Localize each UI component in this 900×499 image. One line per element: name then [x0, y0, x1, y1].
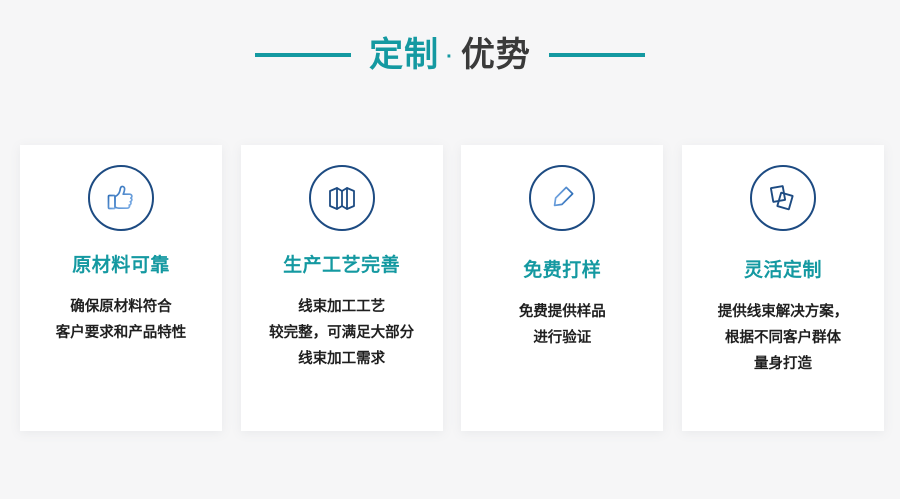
page-title-main: 优势	[461, 38, 531, 72]
icon-badge	[750, 165, 816, 231]
feature-card-title: 灵活定制	[744, 260, 822, 283]
pencil-icon	[545, 181, 579, 215]
feature-card-body-line: 较完整，可满足大部分	[269, 320, 414, 346]
feature-card-body-line: 提供线束解决方案，	[718, 299, 849, 325]
feature-card-flexible-customization[interactable]: 灵活定制 提供线束解决方案， 根据不同客户群体 量身打造	[682, 145, 884, 431]
feature-cards-row: 原材料可靠 确保原材料符合 客户要求和产品特性 生产工艺完善 线束加工工艺	[20, 145, 884, 431]
feature-card-body-line: 根据不同客户群体	[718, 325, 849, 351]
feature-card-body-line: 线束加工需求	[269, 346, 414, 372]
feature-card-body-line: 免费提供样品	[519, 299, 606, 325]
section-header: 定制 · 优势	[0, 0, 900, 110]
icon-badge	[309, 165, 375, 231]
feature-card-body-line: 客户要求和产品特性	[56, 320, 187, 346]
folded-map-icon	[325, 181, 359, 215]
divider-line-right	[549, 53, 645, 57]
feature-card-body-line: 进行验证	[519, 325, 606, 351]
stacked-papers-icon	[766, 181, 800, 215]
feature-card-raw-material[interactable]: 原材料可靠 确保原材料符合 客户要求和产品特性	[20, 145, 222, 431]
divider-line-left	[255, 53, 351, 57]
icon-badge	[88, 165, 154, 231]
feature-card-free-sample[interactable]: 免费打样 免费提供样品 进行验证	[461, 145, 663, 431]
page-title-accent: 定制	[369, 38, 439, 72]
thumbs-up-icon	[104, 181, 138, 215]
feature-card-production-process[interactable]: 生产工艺完善 线束加工工艺 较完整，可满足大部分 线束加工需求	[241, 145, 443, 431]
feature-card-body: 确保原材料符合 客户要求和产品特性	[48, 294, 195, 346]
feature-card-body: 线束加工工艺 较完整，可满足大部分 线束加工需求	[261, 294, 422, 372]
feature-card-body: 提供线束解决方案， 根据不同客户群体 量身打造	[710, 299, 857, 377]
feature-card-title: 原材料可靠	[72, 255, 170, 278]
title-separator-dot: ·	[439, 47, 461, 67]
feature-card-title: 免费打样	[523, 260, 601, 283]
icon-badge	[529, 165, 595, 231]
feature-card-body-line: 量身打造	[718, 351, 849, 377]
feature-card-body-line: 确保原材料符合	[56, 294, 187, 320]
page-title: 定制 · 优势	[369, 38, 531, 72]
feature-card-body-line: 线束加工工艺	[269, 294, 414, 320]
feature-card-body: 免费提供样品 进行验证	[511, 299, 614, 351]
feature-card-title: 生产工艺完善	[283, 255, 400, 278]
